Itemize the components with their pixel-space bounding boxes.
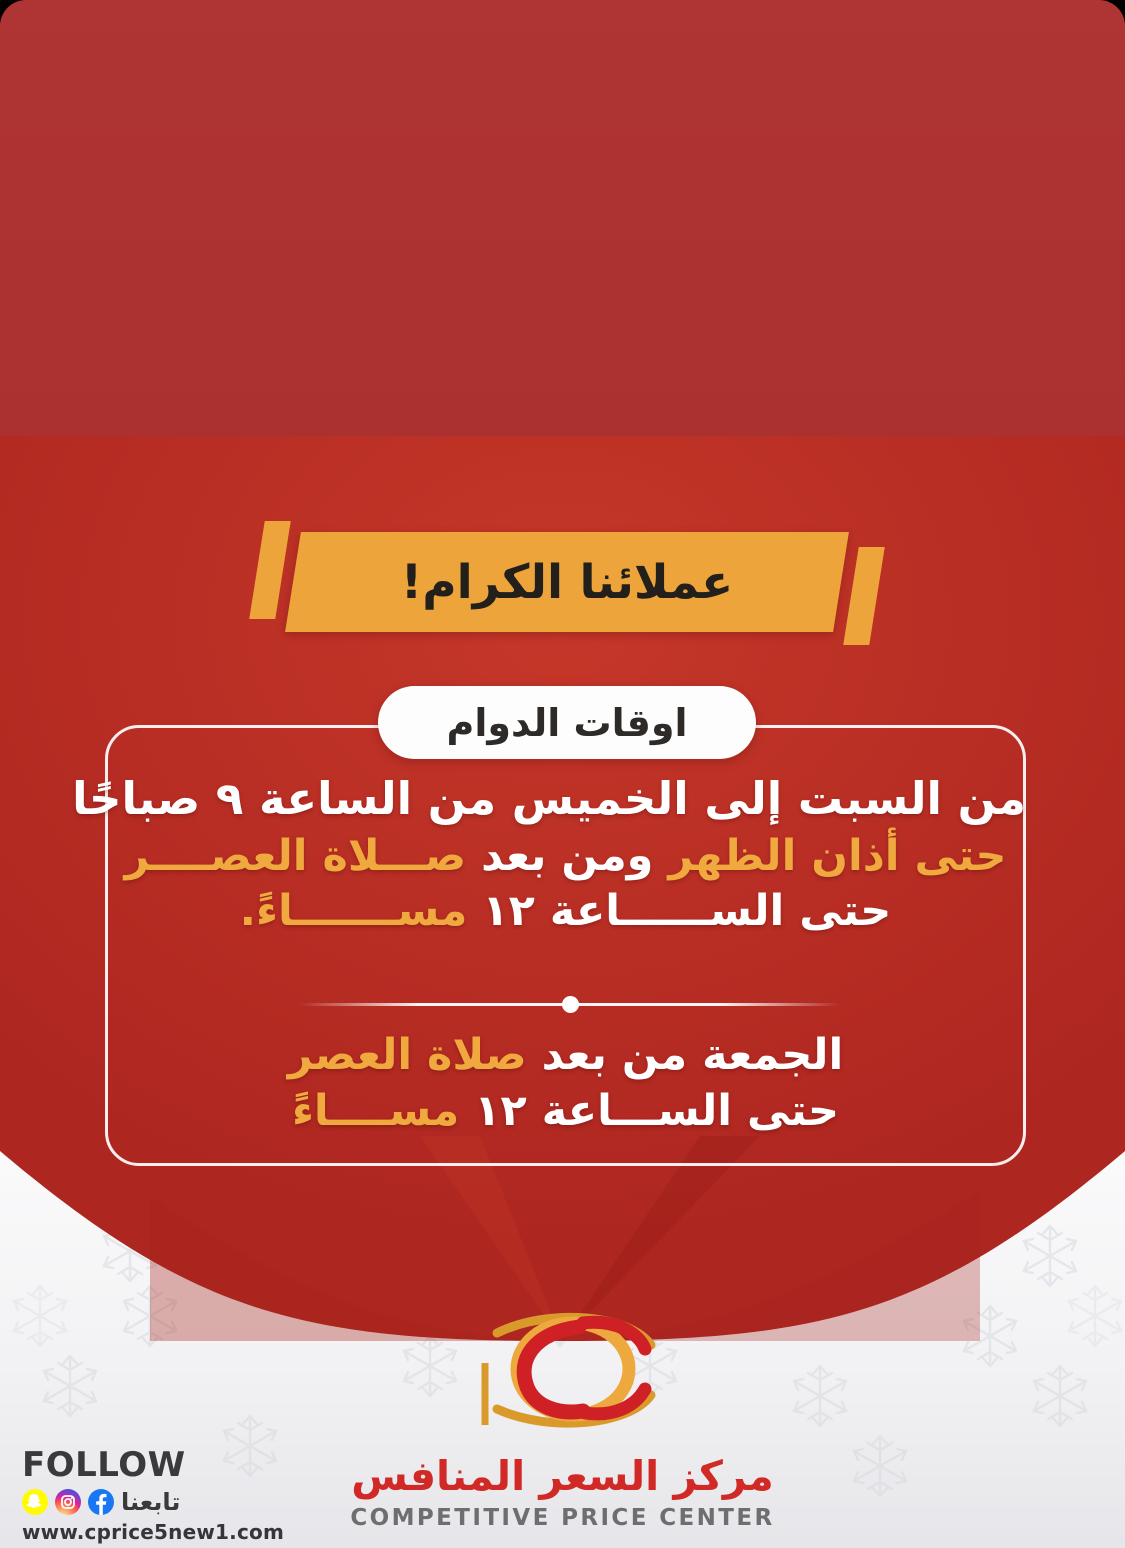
company-logo-icon xyxy=(455,1305,685,1435)
weekday-line-2: حتى أذان الظهر ومن بعد صـــلاة العصــــر xyxy=(105,829,1026,885)
section-title-text: اوقات الدوام xyxy=(447,701,688,745)
weekday-line-2-part-c: صـــلاة العصــــر xyxy=(124,831,466,881)
friday-line-1-part-a: الجمعة من بعد xyxy=(542,1030,844,1080)
weekday-line-2-part-b: ومن بعد xyxy=(481,831,653,881)
headline-banner: عملائنا الكرام! xyxy=(257,521,877,646)
friday-line-1-part-b: صلاة العصر xyxy=(288,1030,527,1080)
poster-screen: عملائنا الكرام! اوقات الدوام من السبت إل… xyxy=(0,0,1125,1548)
friday-hours-block: الجمعة من بعد صلاة العصر حتى الســـاعة ١… xyxy=(105,1028,1026,1140)
follow-label-ar: تابعنا xyxy=(121,1488,180,1516)
weekday-line-3-part-a: حتى الســــــاعة ١٢ xyxy=(482,886,891,936)
social-icons-row: تابعنا xyxy=(22,1488,272,1516)
banner-headline-text: عملائنا الكرام! xyxy=(293,532,841,632)
section-title-pill: اوقات الدوام xyxy=(378,686,756,759)
weekday-line-1-text: من السبت إلى الخميس من الساعة ٩ صباحًا xyxy=(72,772,1026,825)
website-url[interactable]: www.cprice5new1.com xyxy=(22,1520,272,1544)
facebook-icon[interactable] xyxy=(88,1489,114,1515)
friday-line-2-part-b: مســــاءً xyxy=(292,1086,459,1136)
follow-heading-row: FOLLOW xyxy=(22,1448,272,1482)
friday-line-2: حتى الســـاعة ١٢ مســــاءً xyxy=(105,1084,1026,1140)
friday-line-1: الجمعة من بعد صلاة العصر xyxy=(105,1028,1026,1084)
follow-label-en: FOLLOW xyxy=(22,1448,186,1482)
instagram-icon[interactable] xyxy=(55,1489,81,1515)
friday-line-2-part-a: حتى الســـاعة ١٢ xyxy=(474,1086,839,1136)
divider-dot xyxy=(562,996,579,1013)
weekday-line-3: حتى الســــــاعة ١٢ مســـــــاءً. xyxy=(105,884,1026,940)
top-panel xyxy=(0,0,1125,436)
snapchat-icon[interactable] xyxy=(22,1489,48,1515)
weekday-line-3-part-b: مســـــــاءً. xyxy=(240,886,468,936)
weekday-line-2-part-a: حتى أذان الظهر xyxy=(668,831,1006,881)
weekday-line-1: من السبت إلى الخميس من الساعة ٩ صباحًا xyxy=(105,770,1026,829)
follow-block: FOLLOW تابعنا www.cprice xyxy=(22,1448,272,1544)
weekday-hours-block: من السبت إلى الخميس من الساعة ٩ صباحًا ح… xyxy=(105,770,1026,940)
section-divider xyxy=(300,995,840,1013)
